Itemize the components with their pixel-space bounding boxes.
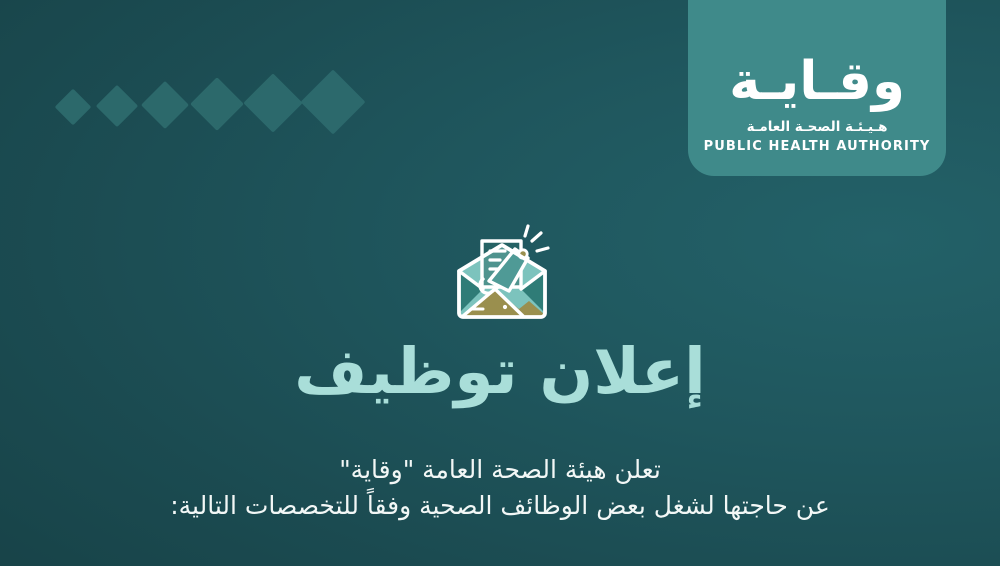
diamond-shape-3 [141, 81, 189, 129]
logo-subtitle-arabic: هـيـئـة الصحـة العامـة [747, 119, 888, 135]
diamond-decoration-row [60, 78, 320, 134]
envelope-megaphone-announcement-icon [449, 219, 555, 325]
recruitment-announcement-poster: وقـايـة هـيـئـة الصحـة العامـة PUBLIC HE… [0, 0, 1000, 566]
page-title: إعلان توظيف [0, 338, 1000, 406]
diamond-shape-2 [96, 85, 138, 127]
diamond-shape-5 [243, 73, 302, 132]
public-health-authority-logo-plate: وقـايـة هـيـئـة الصحـة العامـة PUBLIC HE… [688, 0, 946, 176]
diamond-shape-1 [55, 89, 92, 126]
logo-subtitle-english: PUBLIC HEALTH AUTHORITY [704, 139, 931, 154]
announcement-body: تعلن هيئة الصحة العامة "وقاية" عن حاجتها… [0, 452, 1000, 523]
logo-wordmark-arabic: وقـايـة [729, 55, 905, 108]
diamond-shape-4 [190, 77, 244, 131]
announcement-body-line-1: تعلن هيئة الصحة العامة "وقاية" [0, 452, 1000, 488]
announcement-body-line-2: عن حاجتها لشغل بعض الوظائف الصحية وفقاً … [0, 488, 1000, 524]
diamond-shape-6 [300, 69, 365, 134]
